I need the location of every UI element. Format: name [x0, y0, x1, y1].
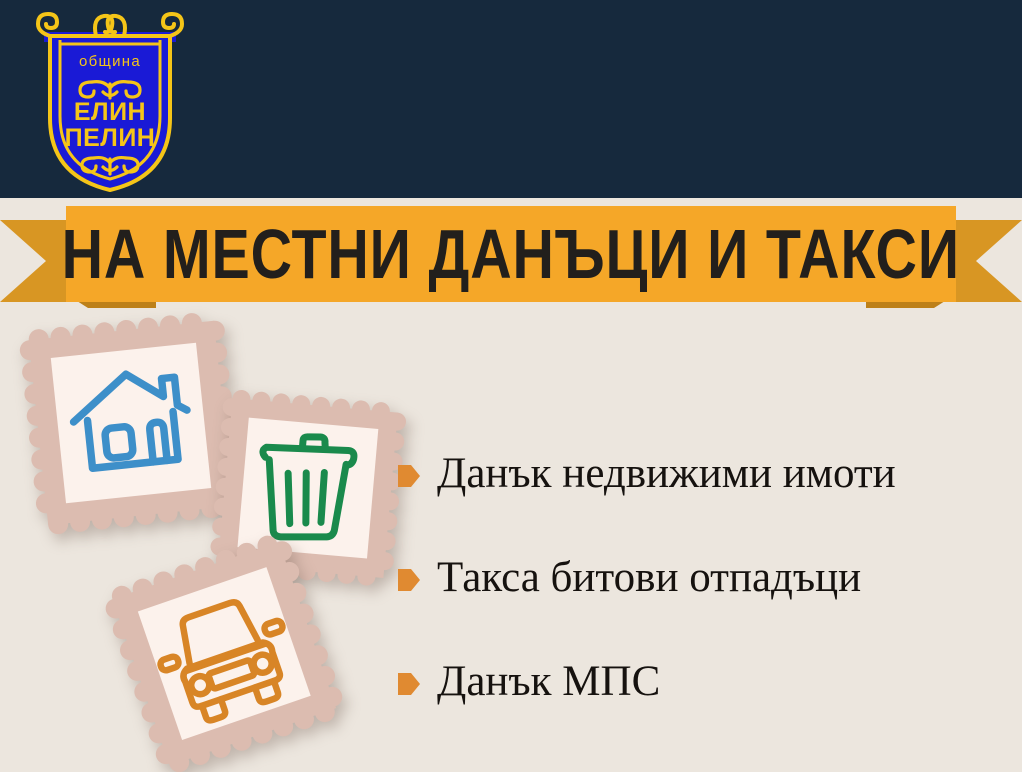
- list-item[interactable]: Такса битови отпадъци: [398, 526, 1018, 630]
- poster-canvas: ПРОВЕРКА И ПЛАЩАНЕ НА ЗАДЪЛЖЕНИЯ община: [0, 0, 1022, 772]
- municipality-logo: община ЕЛИН ПЕЛИН: [30, 6, 190, 192]
- logo-word-line-1: ЕЛИН: [74, 98, 146, 126]
- list-item[interactable]: Данък МПС: [398, 630, 1018, 734]
- tax-type-list: Данък недвижими имоти Такса битови отпад…: [398, 422, 1018, 734]
- arrow-bullet-icon: [398, 671, 420, 697]
- car-stamp: [98, 528, 348, 772]
- car-stamp-graphic: [98, 528, 348, 772]
- logo-word-line-2: ПЕЛИН: [65, 124, 156, 152]
- list-item-label: Данък недвижими имоти: [437, 450, 896, 498]
- arrow-bullet-icon: [398, 463, 420, 489]
- list-item-label: Данък МПС: [437, 658, 660, 706]
- list-item-label: Такса битови отпадъци: [437, 554, 861, 602]
- ribbon-label: НА МЕСТНИ ДАНЪЦИ И ТАКСИ: [62, 219, 960, 289]
- coat-of-arms-icon: община ЕЛИН ПЕЛИН: [30, 6, 190, 192]
- arrow-bullet-icon: [398, 567, 420, 593]
- subtitle-ribbon: НА МЕСТНИ ДАНЪЦИ И ТАКСИ: [0, 198, 1022, 308]
- list-item[interactable]: Данък недвижими имоти: [398, 422, 1018, 526]
- ribbon-body: НА МЕСТНИ ДАНЪЦИ И ТАКСИ: [66, 206, 956, 302]
- logo-word-small: община: [79, 53, 141, 70]
